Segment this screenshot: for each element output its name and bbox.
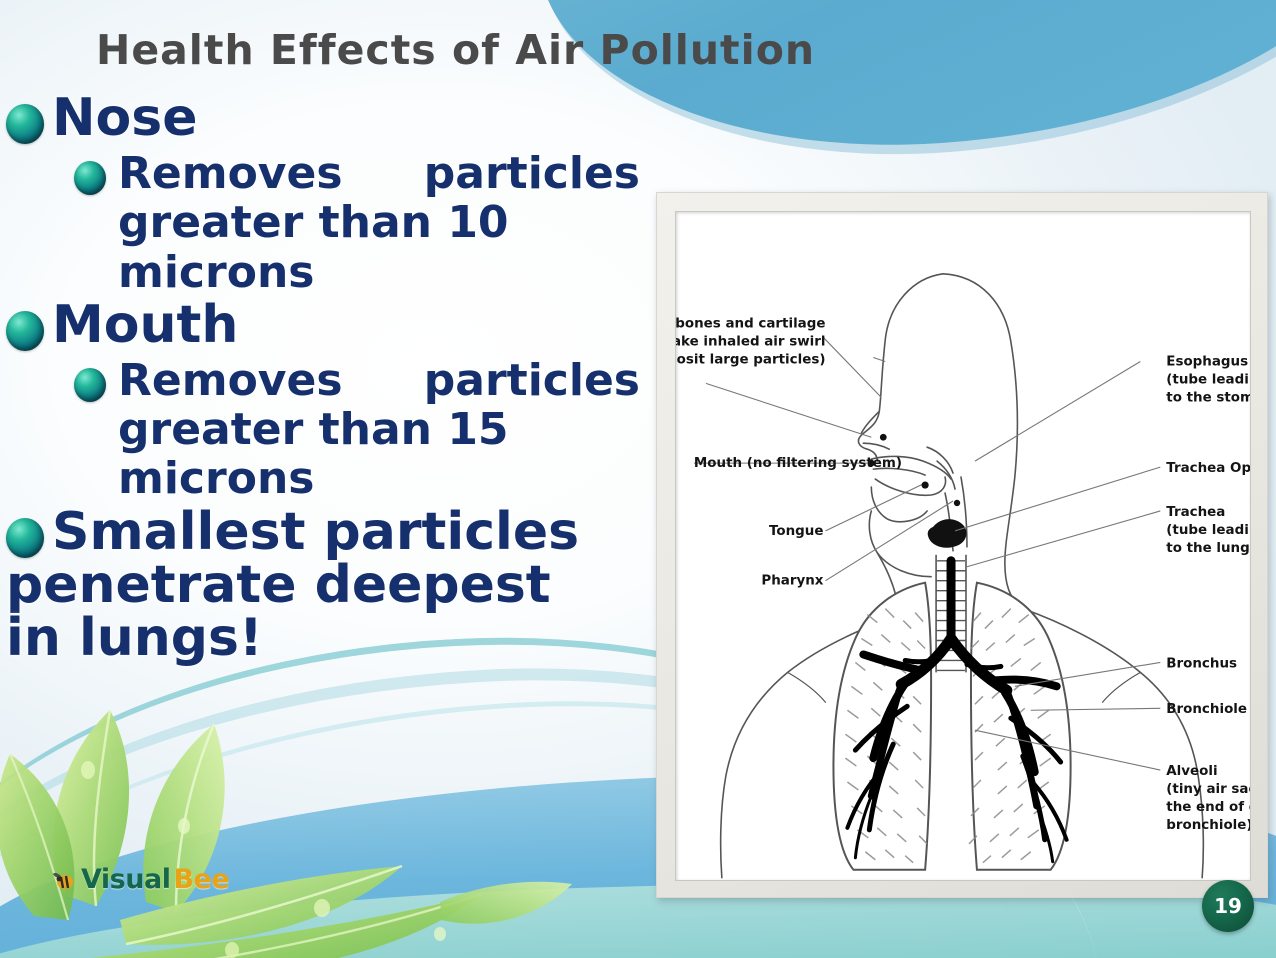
- bullet-line: Removes particles: [118, 149, 640, 198]
- label-esophagus-line3: to the stomach): [1166, 390, 1250, 405]
- label-trachea-opening: Trachea Opening: [1166, 461, 1250, 476]
- bullet-line: greater than 10: [118, 198, 640, 247]
- label-nose-line2: make inhaled air swirl: [676, 335, 825, 350]
- diagram-picture-frame: Nose (bones and cartilage make inhaled a…: [656, 192, 1268, 898]
- bullet-line: Smallest particles: [52, 506, 646, 559]
- label-alveoli-line4: bronchiole): [1166, 818, 1250, 833]
- bullet-line: microns: [118, 248, 640, 297]
- bullet-label-mouth: Mouth: [52, 295, 238, 355]
- label-esophagus-line2: (tube leading: [1166, 372, 1250, 387]
- bullet-item-mouth-detail: Removes particles greater than 15 micron…: [0, 356, 640, 504]
- bullet-word-removes: Removes: [118, 149, 343, 198]
- bullet-line: penetrate deepest: [6, 559, 646, 612]
- label-pharynx: Pharynx: [761, 574, 823, 589]
- bullet-item-nose: Nose: [0, 92, 646, 145]
- label-trachea-line2: (tube leading: [1166, 523, 1250, 538]
- lungs: [833, 561, 1070, 870]
- visualbee-watermark: Visual Bee: [52, 864, 229, 895]
- label-bronchiole: Bronchiole: [1166, 702, 1247, 717]
- trachea-opening-marker: [928, 519, 967, 548]
- label-alveoli-line1: Alveoli: [1166, 764, 1217, 779]
- diagram-left-labels: Nose (bones and cartilage make inhaled a…: [676, 317, 902, 589]
- label-alveoli-line2: (tiny air sacs at: [1166, 782, 1250, 797]
- label-trachea-line1: Trachea: [1166, 505, 1225, 520]
- page-title: Health Effects of Air Pollution: [96, 26, 956, 74]
- leaves-svg: [0, 658, 630, 958]
- bee-icon: [52, 868, 78, 892]
- label-bronchus: Bronchus: [1166, 656, 1237, 671]
- page-number-badge: 19: [1202, 880, 1254, 932]
- label-nose-line3: to deposit large particles): [676, 352, 825, 367]
- bullet-item-nose-detail: Removes particles greater than 10 micron…: [0, 149, 640, 297]
- label-trachea-line3: to the lungs): [1166, 541, 1250, 556]
- diagram-right-labels: Esophagus (tube leading to the stomach) …: [1166, 354, 1250, 832]
- bullet-word-removes: Removes: [118, 356, 343, 405]
- bullet-line: greater than 15: [118, 405, 640, 454]
- bullet-line: in lungs!: [6, 612, 646, 665]
- bullet-label-nose: Nose: [52, 88, 197, 148]
- bullet-item-mouth: Mouth: [0, 299, 646, 352]
- visualbee-bee-text: Bee: [173, 864, 229, 895]
- slide: Health Effects of Air Pollution Nose Rem…: [0, 0, 1276, 958]
- label-esophagus-line1: Esophagus: [1166, 354, 1248, 369]
- leaves-decoration: [0, 658, 630, 958]
- respiratory-system-diagram: Nose (bones and cartilage make inhaled a…: [676, 212, 1250, 880]
- bullet-list: Nose Removes particles greater than 10 m…: [0, 92, 646, 669]
- bullet-word-particles: particles: [424, 356, 640, 405]
- label-alveoli-line3: the end of each: [1166, 800, 1250, 815]
- marble-bullet-icon: [74, 368, 106, 402]
- label-nose-line1: Nose (bones and cartilage: [676, 317, 825, 332]
- marble-bullet-icon: [6, 311, 44, 351]
- visualbee-visual-text: Visual: [81, 864, 170, 895]
- bee-icon-svg: [52, 868, 78, 892]
- label-tongue: Tongue: [769, 524, 823, 539]
- bullet-line: microns: [118, 454, 640, 503]
- bullet-word-particles: particles: [424, 149, 640, 198]
- label-mouth: Mouth (no filtering system): [694, 456, 902, 471]
- marble-bullet-icon: [74, 161, 106, 195]
- marble-bullet-icon: [6, 518, 44, 558]
- marble-bullet-icon: [6, 104, 44, 144]
- bullet-item-smallest-particles: Smallest particles penetrate deepest in …: [0, 506, 646, 665]
- diagram-canvas: Nose (bones and cartilage make inhaled a…: [675, 211, 1251, 881]
- leaf-group: [0, 710, 572, 958]
- bullet-line: Removes particles: [118, 356, 640, 405]
